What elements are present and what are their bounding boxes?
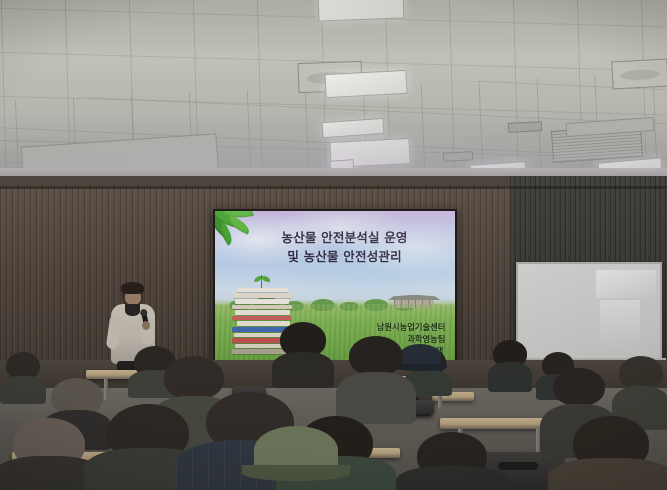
person-shoulders xyxy=(488,362,532,392)
cap-olive xyxy=(254,426,338,474)
list-item xyxy=(336,336,416,424)
whiteboard-glare-top xyxy=(596,270,656,298)
list-item xyxy=(396,432,508,490)
projection-screen: 농산물 안전분석실 운영 및 농산물 안전성관리 남원시농업기술센터 과학영농팀… xyxy=(213,209,457,365)
slide-credit-organization: 남원시농업기술센터 xyxy=(377,321,446,333)
person-shoulders xyxy=(0,376,46,404)
list-item xyxy=(488,340,532,392)
list-item xyxy=(548,416,667,490)
person-shoulders xyxy=(396,466,508,490)
person-shoulders xyxy=(272,352,334,388)
presenter-hand xyxy=(142,321,150,330)
wall-top-trim xyxy=(0,186,667,189)
slide-title: 농산물 안전분석실 운영 및 농산물 안전성관리 xyxy=(249,228,441,267)
person-shoulders xyxy=(548,458,667,490)
list-item xyxy=(0,352,46,404)
presentation-slide: 농산물 안전분석실 운영 및 농산물 안전성관리 남원시농업기술센터 과학영농팀… xyxy=(215,211,455,363)
person-head xyxy=(619,356,663,390)
slide-sprout-icon xyxy=(255,275,269,289)
slide-title-line-1: 농산물 안전분석실 운영 xyxy=(249,228,441,247)
slide-title-line-2: 및 농산물 안전성관리 xyxy=(249,247,441,266)
whiteboard xyxy=(516,262,662,360)
ceiling-shadow-gradient xyxy=(0,0,667,196)
whiteboard-glare-side xyxy=(600,300,640,349)
ceiling xyxy=(0,0,667,196)
person-head xyxy=(553,368,605,406)
list-item xyxy=(272,322,334,388)
lecture-room-photo: 농산물 안전분석실 운영 및 농산물 안전성관리 남원시농업기술센터 과학영농팀… xyxy=(0,0,667,490)
presenter-collar xyxy=(125,304,140,316)
person-head xyxy=(349,336,403,376)
presenter-hair xyxy=(121,282,144,294)
